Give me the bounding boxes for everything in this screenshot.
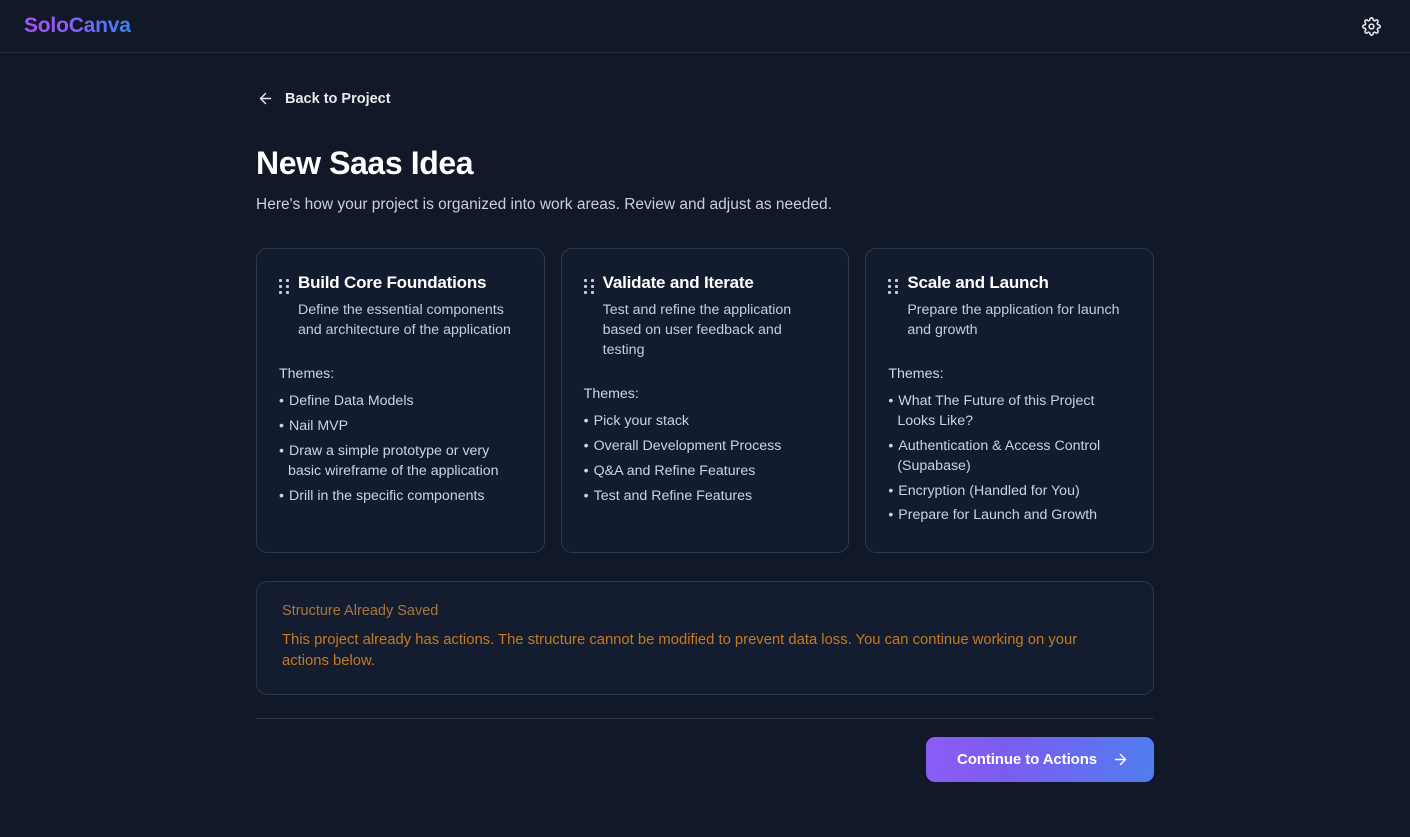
grip-vertical-icon[interactable] [888, 279, 898, 294]
card-header: Scale and Launch Prepare the application… [888, 273, 1131, 340]
work-area-card[interactable]: Validate and Iterate Test and refine the… [561, 248, 850, 553]
card-description: Define the essential components and arch… [298, 300, 522, 341]
themes-label: Themes: [279, 366, 522, 382]
arrow-right-icon [1112, 751, 1129, 768]
card-description: Test and refine the application based on… [603, 300, 827, 361]
footer-actions: Continue to Actions [256, 737, 1154, 782]
work-area-card-list: Build Core Foundations Define the essent… [256, 248, 1154, 553]
page-body: Back to Project New Saas Idea Here's how… [0, 53, 1410, 837]
page-subtitle: Here's how your project is organized int… [256, 195, 1154, 216]
structure-saved-banner: Structure Already Saved This project alr… [256, 581, 1154, 695]
card-header: Validate and Iterate Test and refine the… [584, 273, 827, 360]
settings-button[interactable] [1354, 9, 1388, 43]
theme-item: Pick your stack [584, 412, 827, 432]
card-description: Prepare the application for launch and g… [907, 300, 1131, 341]
theme-item: What The Future of this Project Looks Li… [888, 392, 1131, 432]
theme-item: Prepare for Launch and Growth [888, 506, 1131, 526]
back-to-project-label: Back to Project [285, 91, 391, 107]
content-container: Back to Project New Saas Idea Here's how… [256, 90, 1154, 782]
footer-divider [256, 718, 1154, 719]
theme-item: Define Data Models [279, 392, 522, 412]
banner-title: Structure Already Saved [282, 602, 1129, 621]
work-area-card[interactable]: Build Core Foundations Define the essent… [256, 248, 545, 553]
banner-body: This project already has actions. The st… [282, 630, 1112, 672]
page-title: New Saas Idea [256, 146, 1154, 181]
grip-vertical-icon[interactable] [584, 279, 594, 294]
work-area-card[interactable]: Scale and Launch Prepare the application… [865, 248, 1154, 553]
grip-vertical-icon[interactable] [279, 279, 289, 294]
app-logo[interactable]: SoloCanva [24, 14, 131, 38]
gear-icon [1362, 17, 1381, 36]
theme-item: Nail MVP [279, 417, 522, 437]
card-title: Scale and Launch [907, 273, 1131, 293]
continue-to-actions-button[interactable]: Continue to Actions [926, 737, 1154, 782]
themes-label: Themes: [888, 366, 1131, 382]
theme-item: Overall Development Process [584, 437, 827, 457]
theme-item: Q&A and Refine Features [584, 462, 827, 482]
continue-to-actions-label: Continue to Actions [957, 751, 1097, 768]
card-title: Validate and Iterate [603, 273, 827, 293]
theme-item: Encryption (Handled for You) [888, 482, 1131, 502]
theme-item: Authentication & Access Control (Supabas… [888, 437, 1131, 477]
themes-label: Themes: [584, 386, 827, 402]
card-title: Build Core Foundations [298, 273, 522, 293]
arrow-left-icon [257, 90, 274, 107]
card-header: Build Core Foundations Define the essent… [279, 273, 522, 340]
theme-item: Draw a simple prototype or very basic wi… [279, 442, 522, 482]
theme-item: Test and Refine Features [584, 487, 827, 507]
back-to-project-link[interactable]: Back to Project [257, 90, 391, 107]
theme-item: Drill in the specific components [279, 487, 522, 507]
themes-list: Define Data Models Nail MVP Draw a simpl… [279, 392, 522, 506]
themes-list: What The Future of this Project Looks Li… [888, 392, 1131, 526]
themes-list: Pick your stack Overall Development Proc… [584, 412, 827, 507]
app-header: SoloCanva [0, 0, 1410, 53]
